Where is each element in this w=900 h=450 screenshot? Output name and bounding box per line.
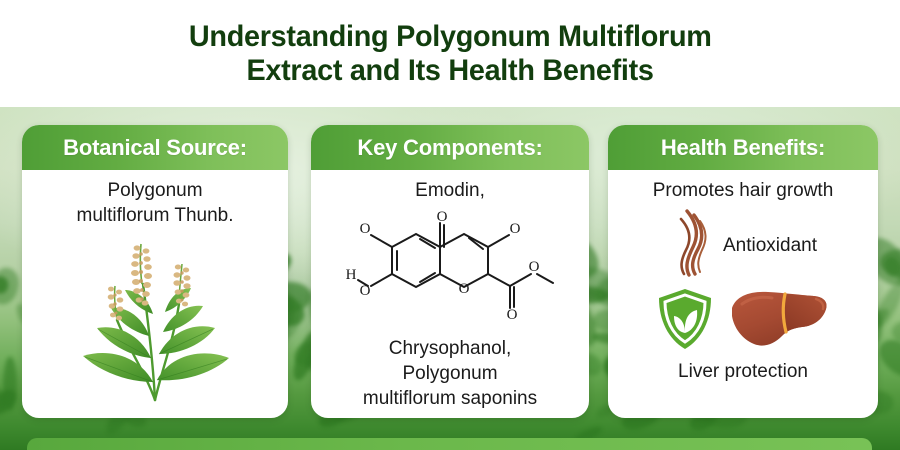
card-key-components-top-text: Emodin, xyxy=(415,178,485,203)
benefit-label-antioxidant: Antioxidant xyxy=(723,233,817,258)
chem-label-o-ester2: O xyxy=(529,259,540,275)
chem-label-o-ring: O xyxy=(459,281,470,297)
chem-label-o-6: O xyxy=(360,221,371,237)
card-health-benefits-heading: Health Benefits: xyxy=(661,135,825,161)
polygonum-plant-illustration xyxy=(61,232,249,409)
benefit-label-hair-growth: Promotes hair growth xyxy=(653,178,834,203)
card-key-components-line-3: multiflorum saponins xyxy=(363,386,537,411)
card-key-components-bottom-text: Chrysophanol, Polygonum multiflorum sapo… xyxy=(363,336,537,411)
card-health-benefits-body: Promotes hair growth xyxy=(608,170,878,418)
card-key-components-body: Emodin, xyxy=(311,170,589,418)
card-botanical-source-body: Polygonum multiflorum Thunb. xyxy=(22,170,288,418)
benefit-label-liver-protection: Liver protection xyxy=(678,359,808,384)
chem-label-h: H xyxy=(346,267,357,283)
hair-strand-icon xyxy=(669,207,715,284)
card-key-components-line-1: Chrysophanol, xyxy=(363,336,537,361)
chem-label-o-ketone: O xyxy=(437,209,448,225)
page-title: Understanding Polygonum Multiflorum Extr… xyxy=(0,0,900,107)
infographic-canvas: Understanding Polygonum Multiflorum Extr… xyxy=(0,0,900,450)
card-key-components-line-2: Polygonum xyxy=(363,361,537,386)
benefit-row-liver-icons xyxy=(618,286,868,357)
card-botanical-source-line-1: Polygonum xyxy=(107,178,202,203)
chem-label-o-7: O xyxy=(360,283,371,299)
card-health-benefits: Health Benefits: Promotes hair growth xyxy=(608,125,878,418)
card-botanical-source: Botanical Source: Polygonum multiflorum … xyxy=(22,125,288,418)
liver-icon xyxy=(728,286,832,357)
footer-accent-bar xyxy=(27,438,872,450)
card-botanical-source-heading: Botanical Source: xyxy=(63,135,247,161)
page-title-line-1: Understanding Polygonum Multiflorum xyxy=(189,20,712,54)
chem-label-o-3: O xyxy=(510,221,521,237)
card-botanical-source-line-2: multiflorum Thunb. xyxy=(77,203,234,228)
card-key-components: Key Components: Emodin, xyxy=(311,125,589,418)
benefit-row-antioxidant: Antioxidant xyxy=(618,207,868,284)
chem-label-o-ester1: O xyxy=(507,307,518,323)
emodin-chemical-structure: O O O H O O O O xyxy=(334,207,566,330)
card-key-components-heading: Key Components: xyxy=(357,135,542,161)
page-title-line-2: Extract and Its Health Benefits xyxy=(246,54,653,88)
card-key-components-header: Key Components: xyxy=(311,125,589,170)
card-botanical-source-header: Botanical Source: xyxy=(22,125,288,170)
shield-leaf-icon xyxy=(654,286,716,357)
card-health-benefits-header: Health Benefits: xyxy=(608,125,878,170)
